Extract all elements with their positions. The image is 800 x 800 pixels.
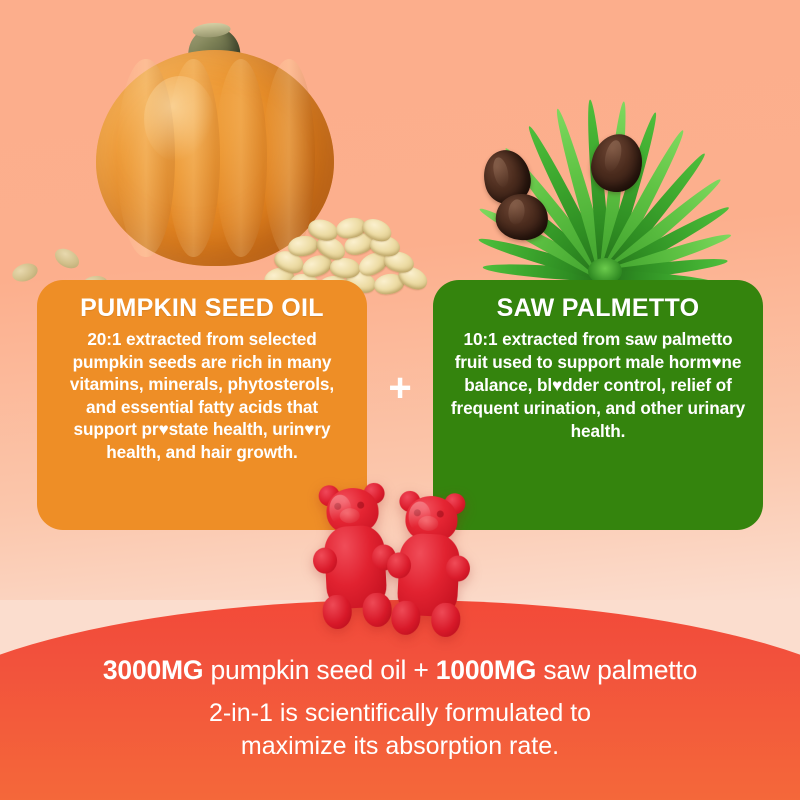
saw-palmetto-frond-photo: [430, 8, 780, 294]
dose-pumpkin-seed-oil: 3000MG: [103, 655, 203, 685]
tagline-block: 3000MG pumpkin seed oil + 1000MG saw pal…: [0, 656, 800, 764]
product-infographic: PUMPKIN SEED OIL 20:1 extracted from sel…: [0, 0, 800, 800]
card-title-saw-palmetto: SAW PALMETTO: [449, 294, 747, 322]
card-title-pumpkin-seed-oil: PUMPKIN SEED OIL: [53, 294, 351, 322]
gummy-bear-right: [386, 490, 472, 644]
tagline-subline-1: 2-in-1 is scientifically formulated to: [0, 697, 800, 731]
gummy-bear-left: [312, 482, 398, 636]
dose-saw-palmetto: 1000MG: [436, 655, 536, 685]
pumpkin-with-seeds-photo: [60, 14, 370, 292]
dose-pumpkin-label: pumpkin seed oil +: [203, 655, 435, 685]
dosage-line: 3000MG pumpkin seed oil + 1000MG saw pal…: [0, 656, 800, 686]
gummy-bears-group: [316, 478, 486, 650]
tagline-subline: 2-in-1 is scientifically formulated to m…: [0, 697, 800, 764]
dose-palmetto-label: saw palmetto: [536, 655, 697, 685]
tagline-subline-2: maximize its absorption rate.: [0, 730, 800, 764]
plus-separator-icon: +: [383, 372, 417, 406]
card-body-saw-palmetto: 10:1 extracted from saw palmetto fruit u…: [449, 328, 747, 442]
card-body-pumpkin-seed-oil: 20:1 extracted from selected pumpkin see…: [53, 328, 351, 463]
